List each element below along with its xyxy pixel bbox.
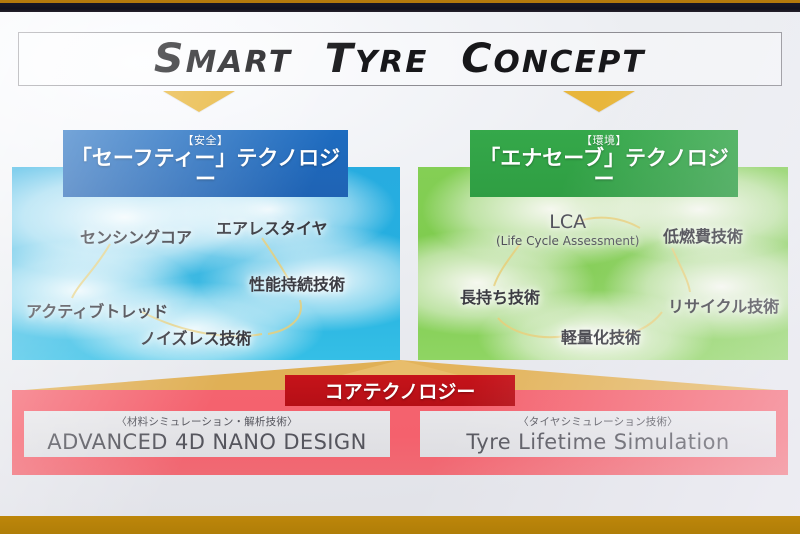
screenshot-stage: SMART TYRE CONCEPT [0,0,800,534]
title-word-concept-cap: C [445,36,494,82]
keyword-long-lasting: 長持ち技術 [460,284,540,308]
keyword-active-tread: アクティブトレッド [26,298,168,322]
title-word-smart-rest: MART [186,45,292,80]
core-box-left-main: ADVANCED 4D NANO DESIGN [47,430,366,454]
presentation-slide: SMART TYRE CONCEPT [0,12,800,516]
panel-header-enasave: 【環境】 「エナセーブ」テクノロジー [470,130,738,197]
slide-title-box: SMART TYRE CONCEPT [18,32,782,86]
triangle-down-icon-right [563,91,635,112]
keyword-lca: LCA (Life Cycle Assessment) [496,211,639,248]
core-box-right-main: Tyre Lifetime Simulation [466,430,729,454]
title-word-concept-rest: ONCEPT [494,45,646,80]
panel-header-safety-sub: 【安全】 [63,135,348,146]
triangle-down-icon-left [163,91,235,112]
keyword-performance-sustaining: 性能持続技術 [249,271,345,295]
panel-header-enasave-sub: 【環境】 [470,135,738,146]
core-box-right-sub: 〈タイヤシミュレーション技術〉 [518,414,678,429]
keyword-fuel-efficiency: 低燃費技術 [663,223,743,247]
keyword-lca-label: LCA [549,211,586,233]
keyword-noiseless-tech: ノイズレス技術 [140,325,252,349]
keyword-recycling: リサイクル技術 [668,293,779,317]
panel-header-safety: 【安全】 「セーフティー」テクノロジー [63,130,348,197]
keyword-weight-reduction: 軽量化技術 [561,324,641,348]
title-word-tyre-cap: T [309,36,356,82]
core-technology-label: コアテクノロジー [285,375,515,406]
core-box-left-sub: 〈材料シミュレーション・解析技術〉 [116,414,297,429]
panel-header-safety-main: 「セーフティー」テクノロジー [63,148,348,190]
core-box-advanced-4d-nano-design: 〈材料シミュレーション・解析技術〉 ADVANCED 4D NANO DESIG… [24,411,390,457]
keyword-sensing-core: センシングコア [80,224,192,248]
core-box-tyre-lifetime-simulation: 〈タイヤシミュレーション技術〉 Tyre Lifetime Simulation [420,411,776,457]
bottom-gold-strip [0,516,800,534]
keyword-lca-sub: (Life Cycle Assessment) [496,234,639,248]
title-word-smart-cap: S [154,36,186,82]
panel-header-enasave-main: 「エナセーブ」テクノロジー [470,148,738,190]
slide-title: SMART TYRE CONCEPT [154,36,646,82]
title-word-tyre-rest: YRE [355,45,428,80]
keyword-airless-tyre: エアレスタイヤ [216,215,328,239]
